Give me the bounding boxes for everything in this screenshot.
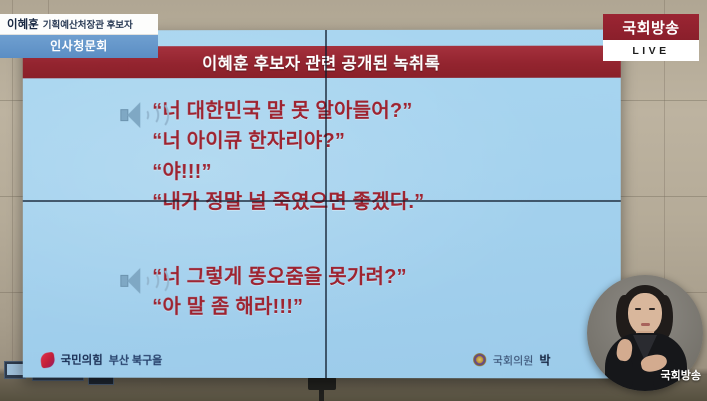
quote-line: “너 대한민국 말 못 알아들어?” — [152, 96, 620, 127]
slide-footer-left: 국민의힘 부산 북구을 — [41, 352, 163, 368]
studio-camera — [300, 377, 342, 401]
slide-title: 이혜훈 후보자 관련 공개된 녹취록 — [202, 50, 440, 74]
live-badge: LIVE — [603, 40, 699, 61]
videowall-seam-vertical — [325, 30, 327, 378]
lower-third-banner: 이혜훈 기획예산처장관 후보자 인사청문회 — [0, 14, 158, 58]
event-name: 인사청문회 — [50, 39, 108, 53]
quote-line: “너 그렇게 똥오줌을 못가려?” — [152, 262, 620, 293]
party-flame-logo-icon — [40, 351, 56, 368]
member-name: 박 — [539, 351, 550, 368]
district-name: 부산 북구을 — [109, 352, 162, 368]
quote-line: “아 말 좀 해라!!!” — [152, 292, 620, 323]
sign-language-watermark: 국회방송 — [661, 367, 701, 383]
presentation-video-wall: 이혜훈 후보자 관련 공개된 녹취록 “너 대한민국 말 못 알아들어?” “너… — [23, 30, 621, 379]
candidate-role: 기획예산처장관 후보자 — [43, 17, 133, 31]
national-assembly-emblem-icon — [474, 353, 487, 366]
live-label: LIVE — [632, 45, 669, 57]
party-name: 국민의힘 — [61, 352, 103, 368]
wall-panel-seam — [12, 0, 13, 401]
candidate-name: 이혜훈 — [7, 16, 39, 32]
quote-block: “너 그렇게 똥오줌을 못가려?” “아 말 좀 해라!!!” — [23, 262, 621, 323]
quote-line: “내가 정말 널 죽였으면 좋겠다.” — [152, 187, 620, 217]
quote-line: “너 아이큐 한자리야?” — [152, 126, 620, 157]
channel-name: 국회방송 — [622, 20, 679, 37]
speaker-icon — [120, 100, 156, 130]
slide-footer-right: 국회의원 박 — [474, 351, 551, 368]
quote-line: “야!!!” — [152, 157, 620, 188]
channel-logo: 국회방송 LIVE — [603, 14, 699, 61]
speaker-icon — [120, 266, 156, 296]
channel-name-box: 국회방송 — [603, 14, 699, 40]
videowall-seam-horizontal — [23, 200, 621, 202]
lower-third-event-row: 인사청문회 — [0, 35, 158, 58]
lower-third-person-row: 이혜훈 기획예산처장관 후보자 — [0, 14, 158, 35]
member-title: 국회의원 — [493, 352, 534, 368]
